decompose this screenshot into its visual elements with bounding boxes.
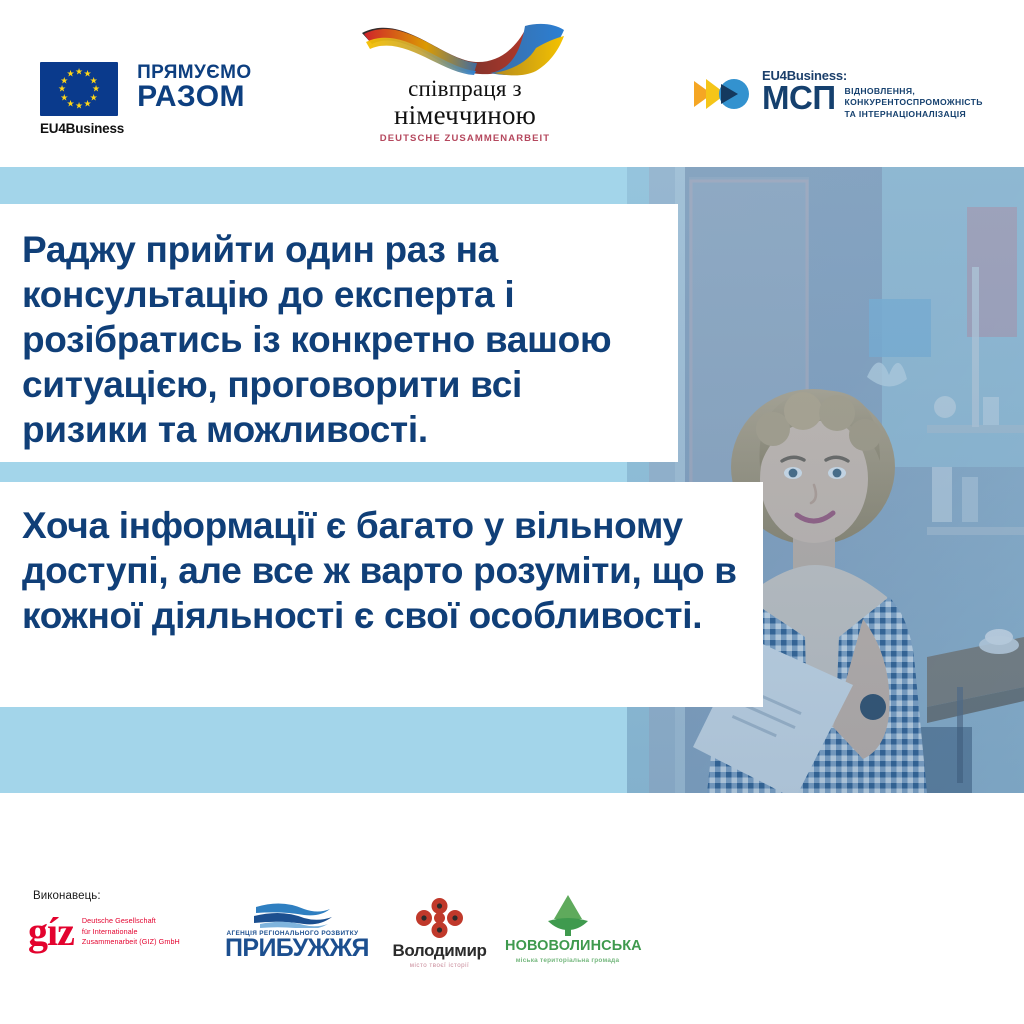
volodymyr-logo: Володимир місто твоєї історії xyxy=(387,897,492,969)
german-coop-line1: співпраця з xyxy=(350,77,580,101)
eu-star-icon: ★ xyxy=(75,68,83,77)
german-coop-line2: німеччиною xyxy=(350,101,580,129)
quote-block-2: Хоча інформації є багато у вільному дост… xyxy=(0,482,763,707)
performer-label: Виконавець: xyxy=(33,890,101,902)
header-logo-strip: ★★★★★★★★★★★★ EU4Business ПРЯМУЄМО РАЗОМ xyxy=(0,0,1024,167)
promo-card: ★★★★★★★★★★★★ EU4Business ПРЯМУЄМО РАЗОМ xyxy=(0,0,1024,1024)
european-union-flag-icon: ★★★★★★★★★★★★ xyxy=(40,62,118,116)
arrows-and-circle-mark-icon xyxy=(692,73,754,115)
blue-wave-mark-icon xyxy=(250,901,336,928)
quote-text-1: Раджу прийти один раз на консультацію до… xyxy=(22,228,652,453)
quote-text-2: Хоча інформації є багато у вільному дост… xyxy=(22,504,737,639)
green-pine-tree-mark-icon xyxy=(542,893,594,937)
giz-descriptor: Deutsche Gesellschaft für Internationale… xyxy=(82,916,180,947)
giz-wordmark: gíz xyxy=(28,916,74,948)
footer-logo-strip: Виконавець: gíz Deutsche Gesellschaft fü… xyxy=(0,793,1024,1024)
giz-descriptor-line2: für Internationale xyxy=(82,927,180,937)
eu-star-icon: ★ xyxy=(60,93,68,102)
eu-star-icon: ★ xyxy=(75,102,83,111)
eu4business-label: EU4Business xyxy=(40,121,124,136)
msp-acronym: МСП xyxy=(762,82,836,113)
giz-descriptor-line3: Zusammenarbeit (GIZ) GmbH xyxy=(82,937,180,947)
msp-descriptor-line2: КОНКУРЕНТОСПРОМОЖНІСТЬ xyxy=(845,97,983,108)
eu4business-msp-logo: EU4Business: МСП ВІДНОВЛЕННЯ, КОНКУРЕНТО… xyxy=(692,68,983,120)
eu-star-icon: ★ xyxy=(66,70,74,79)
volodymyr-wordmark: Володимир xyxy=(387,942,492,959)
msp-descriptor-line1: ВІДНОВЛЕННЯ, xyxy=(845,86,983,97)
german-cooperation-logo: співпраця з німеччиною DEUTSCHE ZUSAMMEN… xyxy=(350,18,580,144)
eu4business-logo: ★★★★★★★★★★★★ EU4Business ПРЯМУЄМО РАЗОМ xyxy=(40,62,252,136)
prybuzhzhia-logo: АГЕНЦІЯ РЕГІОНАЛЬНОГО РОЗВИТКУ ПРИБУЖЖЯ xyxy=(225,901,360,961)
eu-slogan-line2: РАЗОМ xyxy=(137,83,251,112)
giz-descriptor-line1: Deutsche Gesellschaft xyxy=(82,916,180,926)
giz-logo: gíz Deutsche Gesellschaft für Internatio… xyxy=(28,916,180,948)
quote-block-1: Раджу прийти один раз на консультацію до… xyxy=(0,204,678,462)
red-ornament-cross-mark-icon xyxy=(415,897,464,939)
prybuzhzhia-wordmark: ПРИБУЖЖЯ xyxy=(225,936,360,961)
eu-star-icon: ★ xyxy=(83,99,91,108)
german-coop-line3: DEUTSCHE ZUSAMMENARBEIT xyxy=(350,133,580,144)
novovolynska-logo: НОВОВОЛИНСЬКА міська територіальна грома… xyxy=(505,893,630,964)
eu-star-icon: ★ xyxy=(58,85,66,94)
eu-slogan: ПРЯМУЄМО РАЗОМ xyxy=(137,64,251,112)
volodymyr-tagline: місто твоєї історії xyxy=(387,962,492,969)
msp-descriptor-line3: ТА ІНТЕРНАЦІОНАЛІЗАЦІЯ xyxy=(845,109,983,120)
msp-descriptor: ВІДНОВЛЕННЯ, КОНКУРЕНТОСПРОМОЖНІСТЬ ТА І… xyxy=(845,86,983,120)
novovolynska-wordmark: НОВОВОЛИНСЬКА xyxy=(505,939,630,954)
german-ukrainian-flag-ribbon-icon xyxy=(350,18,580,76)
novovolynska-descriptor: міська територіальна громада xyxy=(505,957,630,964)
